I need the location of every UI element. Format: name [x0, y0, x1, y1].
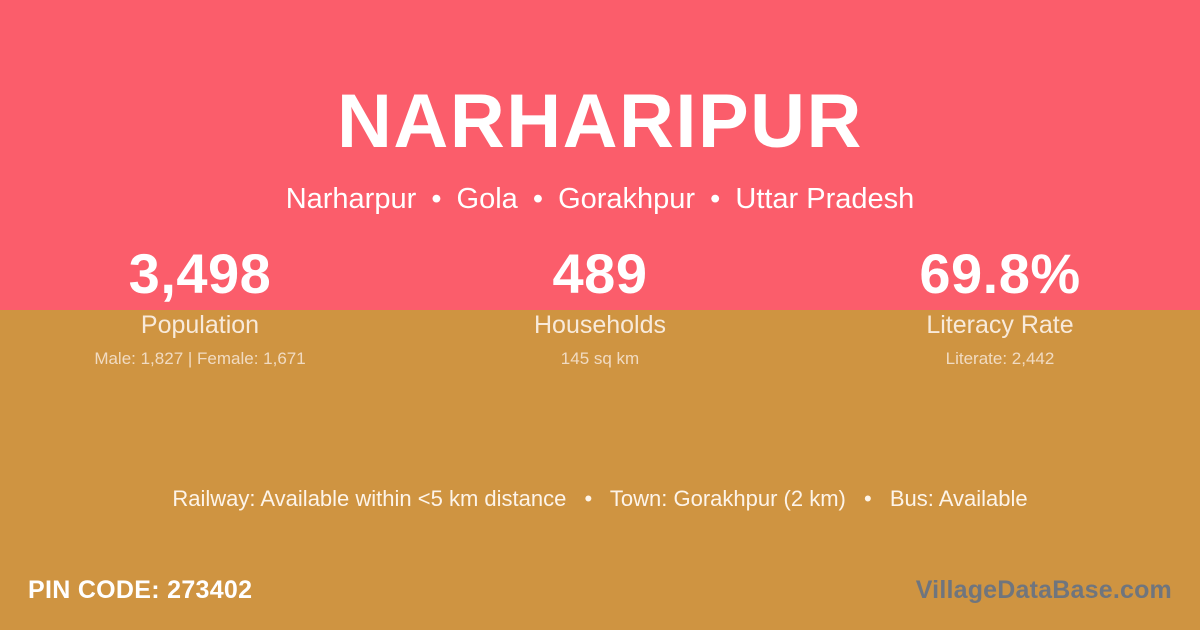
- breadcrumb-separator: •: [703, 183, 727, 215]
- card-header: NARHARIPUR Narharpur • Gola • Gorakhpur …: [0, 0, 1200, 216]
- stat-label: Households: [400, 312, 800, 340]
- stat-sublabel: 145 sq km: [400, 350, 800, 369]
- amenity-town: Town: Gorakhpur (2 km): [610, 486, 846, 511]
- breadcrumb-separator: •: [526, 183, 550, 215]
- stats-row: 3,498 Population Male: 1,827 | Female: 1…: [0, 243, 1200, 369]
- stat-population: 3,498 Population Male: 1,827 | Female: 1…: [0, 243, 400, 369]
- amenity-railway: Railway: Available within <5 km distance: [172, 486, 566, 511]
- stat-label: Population: [0, 312, 400, 340]
- amenity-separator: •: [572, 486, 604, 511]
- breadcrumb: Narharpur • Gola • Gorakhpur • Uttar Pra…: [0, 184, 1200, 216]
- card-footer: PIN CODE: 273402 VillageDataBase.com: [0, 552, 1200, 630]
- page-title: NARHARIPUR: [0, 84, 1200, 160]
- breadcrumb-item-state: Uttar Pradesh: [735, 183, 914, 215]
- stat-households: 489 Households 145 sq km: [400, 243, 800, 369]
- stat-value: 489: [400, 243, 800, 306]
- pin-code: PIN CODE: 273402: [28, 577, 252, 605]
- breadcrumb-item-block: Gola: [457, 183, 518, 215]
- stat-value: 3,498: [0, 243, 400, 306]
- breadcrumb-item-district: Gorakhpur: [558, 183, 695, 215]
- stat-label: Literacy Rate: [800, 312, 1200, 340]
- amenity-separator: •: [852, 486, 884, 511]
- stat-sublabel: Male: 1,827 | Female: 1,671: [0, 350, 400, 369]
- stat-value: 69.8%: [800, 243, 1200, 306]
- stat-literacy-rate: 69.8% Literacy Rate Literate: 2,442: [800, 243, 1200, 369]
- breadcrumb-item-panchayat: Narharpur: [286, 183, 417, 215]
- amenities-line: Railway: Available within <5 km distance…: [0, 486, 1200, 512]
- stat-sublabel: Literate: 2,442: [800, 350, 1200, 369]
- amenity-bus: Bus: Available: [890, 486, 1028, 511]
- village-info-card: NARHARIPUR Narharpur • Gola • Gorakhpur …: [0, 0, 1200, 630]
- breadcrumb-separator: •: [424, 183, 448, 215]
- site-brand: VillageDataBase.com: [916, 577, 1172, 605]
